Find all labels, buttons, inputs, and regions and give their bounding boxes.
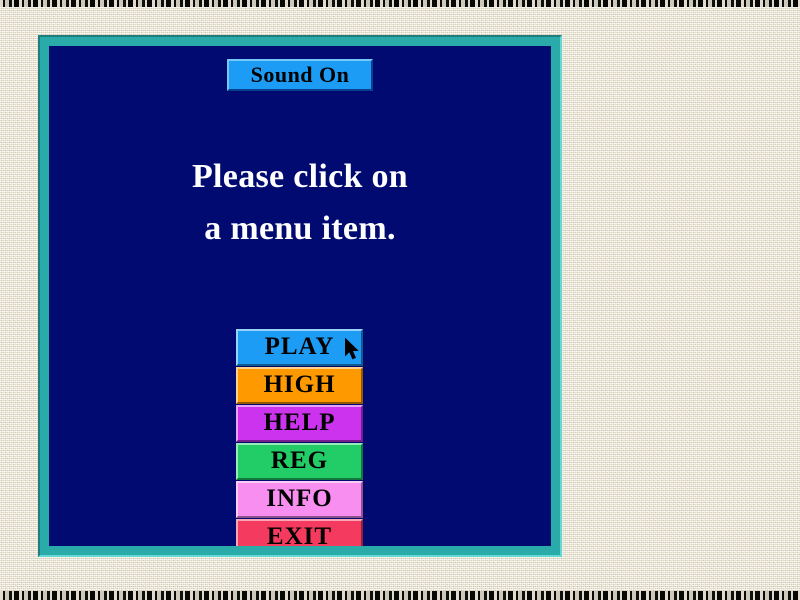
- menu-button-play[interactable]: PLAY: [236, 329, 363, 366]
- menu-button-high[interactable]: HIGH: [236, 367, 363, 404]
- screen-edge-bottom: [0, 591, 800, 600]
- prompt-message: Please click on a menu item.: [49, 151, 551, 255]
- menu-button-help[interactable]: HELP: [236, 405, 363, 442]
- prompt-line-1: Please click on: [49, 151, 551, 203]
- game-panel-frame: Sound On Please click on a menu item. PL…: [38, 35, 562, 557]
- screen-edge-top: [0, 0, 800, 7]
- game-panel: Sound On Please click on a menu item. PL…: [49, 46, 551, 546]
- sound-toggle-button[interactable]: Sound On: [227, 59, 373, 91]
- application-screen: Sound On Please click on a menu item. PL…: [0, 0, 800, 600]
- menu-button-reg[interactable]: REG: [236, 443, 363, 480]
- menu-button-info[interactable]: INFO: [236, 481, 363, 518]
- menu-button-exit[interactable]: EXIT: [236, 519, 363, 546]
- prompt-line-2: a menu item.: [49, 203, 551, 255]
- main-menu: PLAY HIGH HELP REG INFO EXIT: [236, 329, 363, 546]
